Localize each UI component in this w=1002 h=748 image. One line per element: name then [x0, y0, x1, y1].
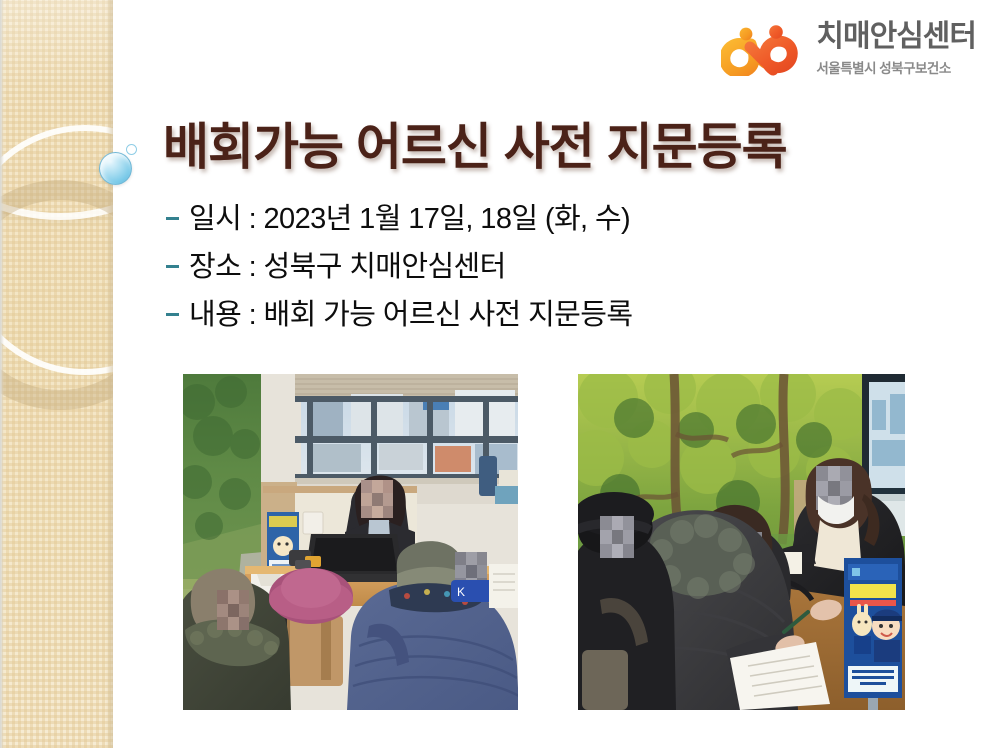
- bullet-dash-icon: [166, 313, 179, 316]
- list-item-label: 내용 : 배회 가능 어르신 사전 지문등록: [189, 291, 632, 333]
- photo-left-artwork: K: [183, 374, 518, 710]
- bullet-list: 일시 : 2023년 1월 17일, 18일 (화, 수) 장소 : 성북구 치…: [166, 195, 886, 339]
- decorative-sidebar: [0, 0, 113, 748]
- sidebar-left-edge: [0, 0, 4, 748]
- bullet-dash-icon: [166, 217, 179, 220]
- photo-right-artwork: [578, 374, 905, 710]
- sidebar-right-edge: [106, 0, 113, 748]
- svg-text:K: K: [457, 585, 465, 599]
- list-item: 일시 : 2023년 1월 17일, 18일 (화, 수): [166, 195, 886, 243]
- logo-subtitle: 서울특별시 성북구보건소: [816, 57, 950, 77]
- list-item-label: 일시 : 2023년 1월 17일, 18일 (화, 수): [189, 195, 630, 237]
- blue-circle-outline-icon: [126, 144, 137, 155]
- center-logo: 치매안심센터 서울특별시 성북구보건소: [721, 22, 976, 77]
- bullet-dash-icon: [166, 265, 179, 268]
- photo-fingerprint-registration-desk: [578, 374, 905, 710]
- list-item: 내용 : 배회 가능 어르신 사전 지문등록: [166, 291, 886, 339]
- chimae-ansim-center-logo-mark-icon: [721, 24, 805, 76]
- photo-fingerprint-registration-office: K: [183, 374, 518, 710]
- page-title: 배회가능 어르신 사전 지문등록: [163, 107, 787, 179]
- sidebar-ring-thin: [0, 125, 113, 375]
- logo-title: 치매안심센터: [816, 22, 976, 52]
- blue-gloss-sphere-icon: [99, 152, 132, 185]
- list-item-label: 장소 : 성북구 치매안심센터: [189, 243, 506, 285]
- list-item: 장소 : 성북구 치매안심센터: [166, 243, 886, 291]
